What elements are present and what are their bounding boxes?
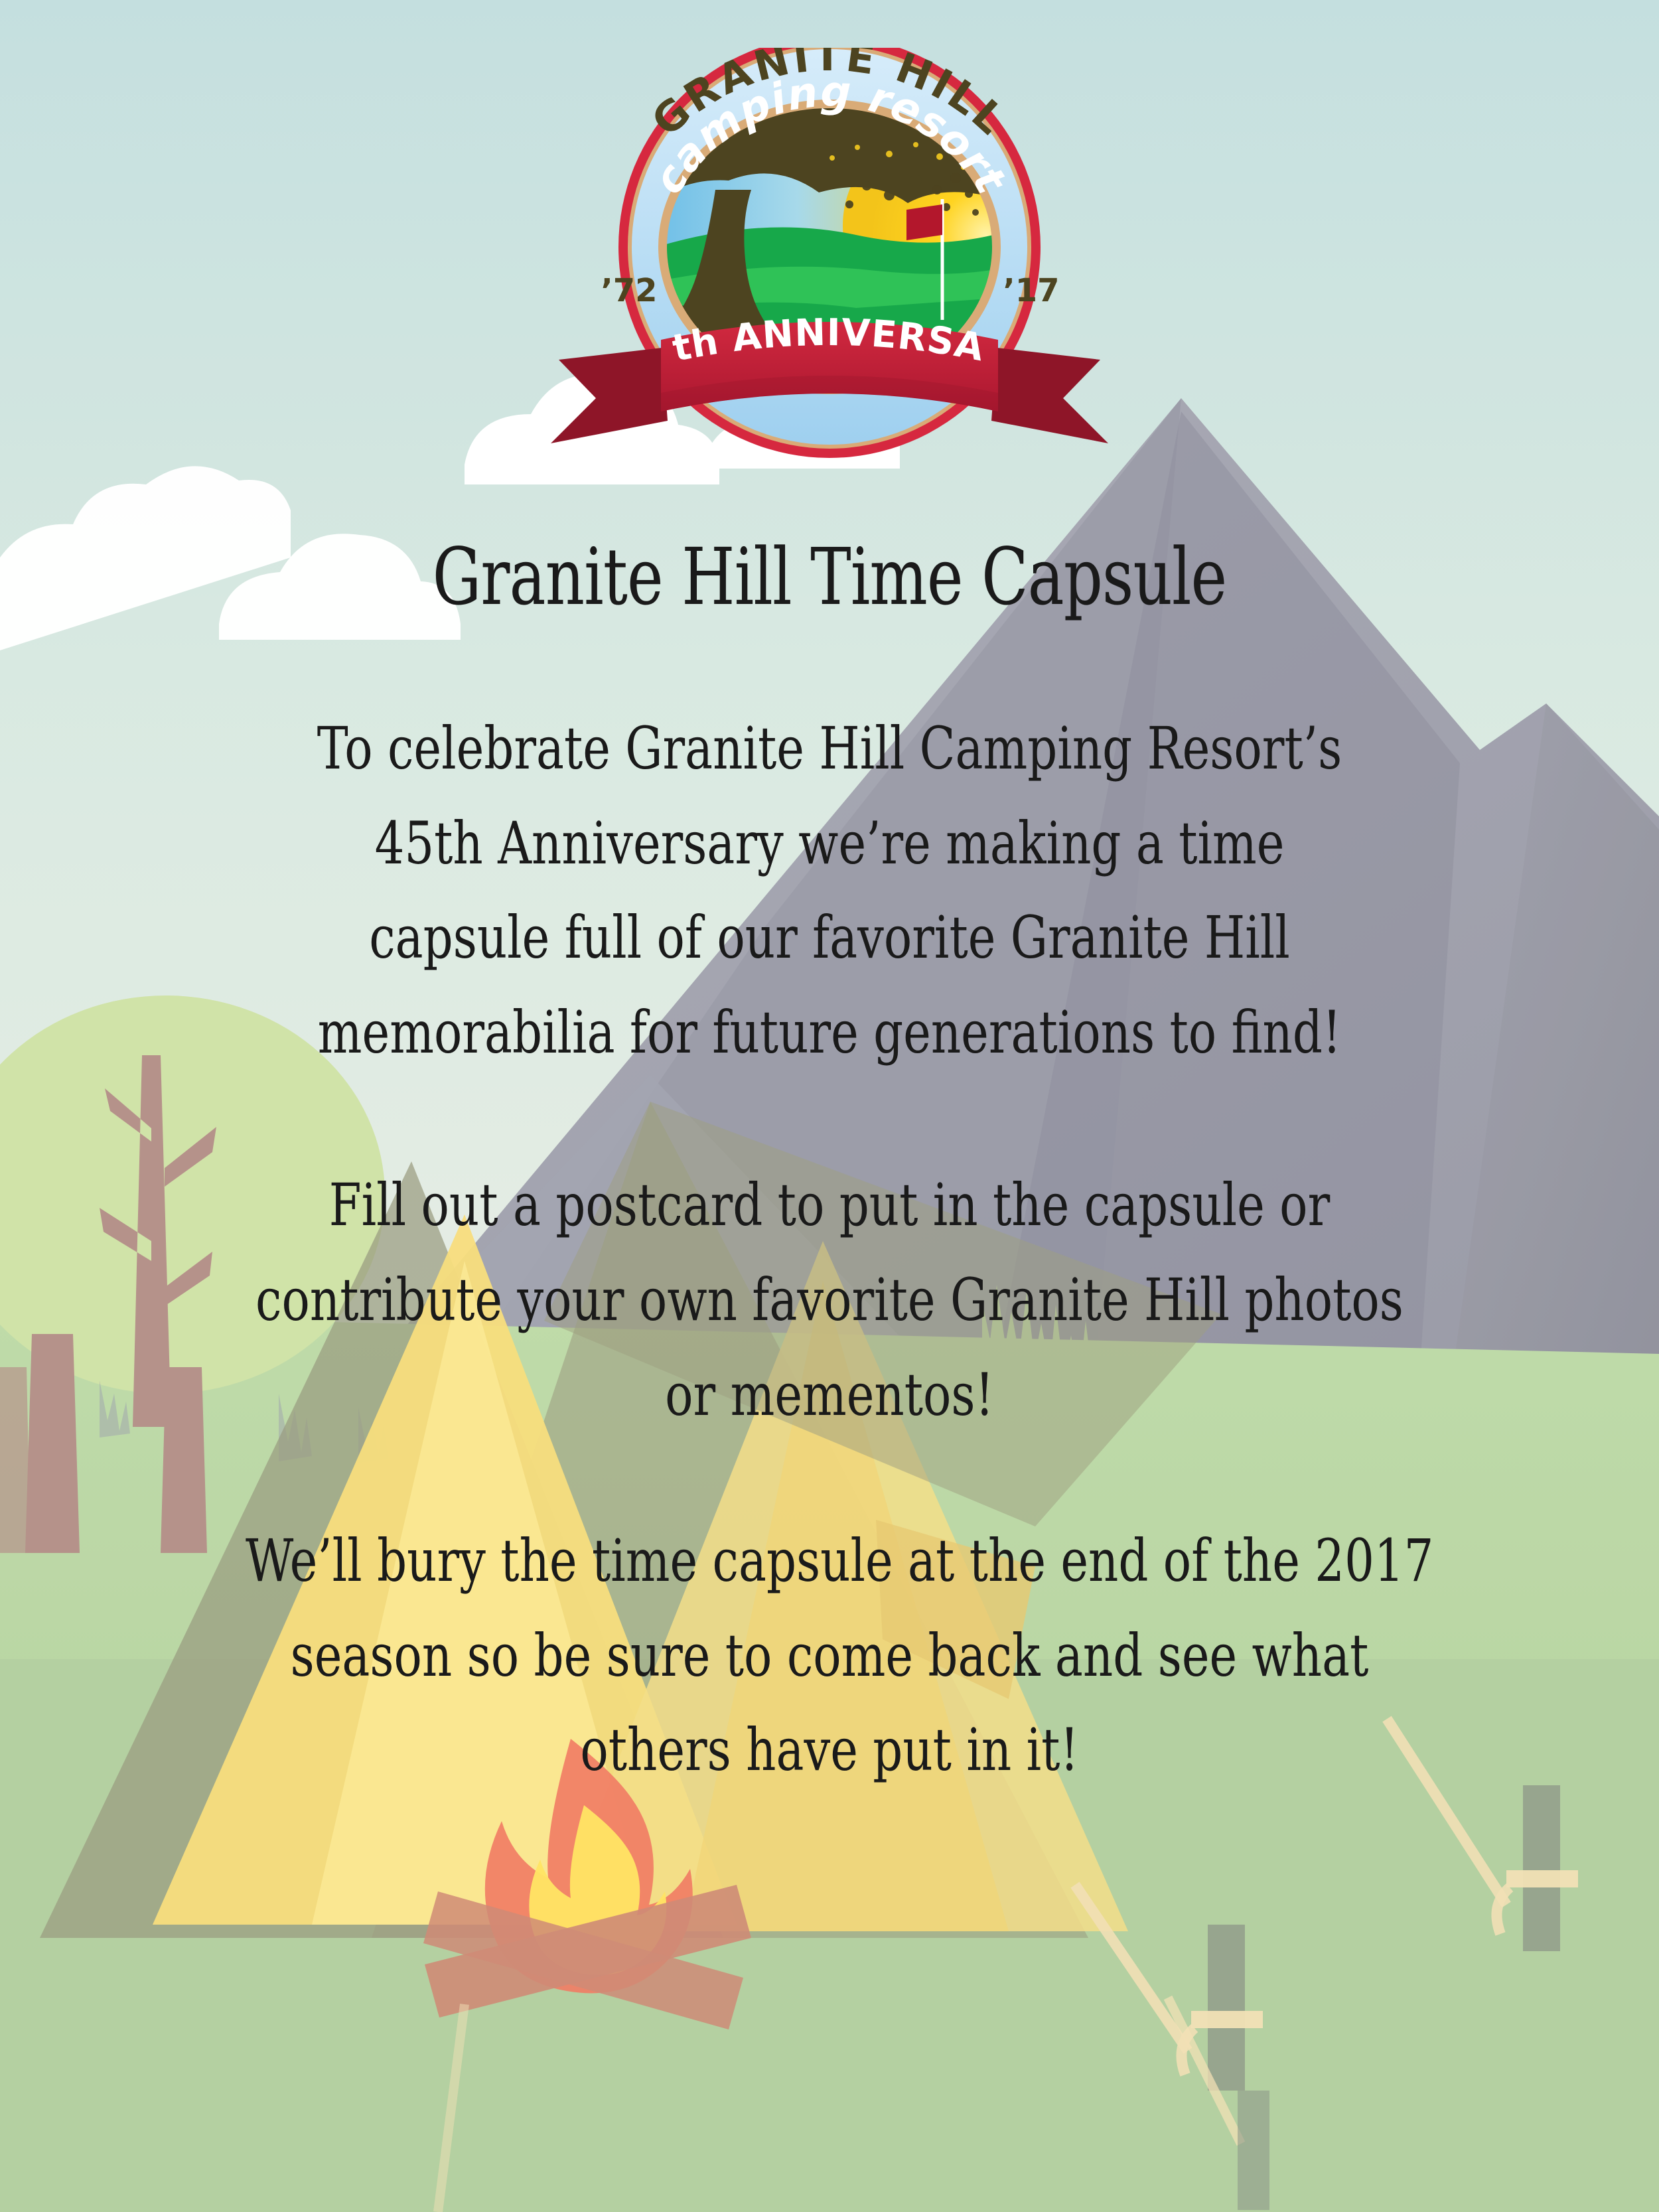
paragraph-line: memorabilia for future generations to fi… [246, 986, 1413, 1080]
paragraph-line: 45th Anniversary we’re making a time [246, 796, 1413, 891]
paragraph-spacer [0, 1080, 1659, 1158]
paragraph-spacer [0, 1442, 1659, 1514]
ribbon-tail-right [991, 348, 1108, 443]
paragraph-line: We’ll bury the time capsule at the end o… [246, 1514, 1413, 1609]
granite-hill-logo: GRANITE HILL camping resort ’72 ’17 45th… [544, 48, 1115, 473]
paragraph-line: Fill out a postcard to put in the capsul… [246, 1158, 1413, 1253]
logo-year-left: ’72 [601, 272, 657, 309]
paragraph-line: others have put in it! [246, 1703, 1413, 1798]
poster-canvas: GRANITE HILL camping resort ’72 ’17 45th… [0, 0, 1659, 2212]
paragraph-participate: Fill out a postcard to put in the capsul… [246, 1158, 1413, 1442]
page-title: Granite Hill Time Capsule [182, 531, 1477, 623]
ribbon-tail-left [551, 348, 668, 443]
logo-year-right: ’17 [1003, 272, 1059, 309]
paragraph-intro: To celebrate Granite Hill Camping Resort… [246, 701, 1413, 1080]
paragraph-line: capsule full of our favorite Granite Hil… [246, 891, 1413, 986]
paragraph-line: To celebrate Granite Hill Camping Resort… [246, 701, 1413, 796]
paragraph-line: or mementos! [246, 1348, 1413, 1443]
paragraph-burial: We’ll bury the time capsule at the end o… [246, 1514, 1413, 1798]
paragraph-line: season so be sure to come back and see w… [246, 1609, 1413, 1704]
paragraph-line: contribute your own favorite Granite Hil… [246, 1253, 1413, 1348]
poster-text-block: Granite Hill Time Capsule To celebrate G… [0, 531, 1659, 1798]
